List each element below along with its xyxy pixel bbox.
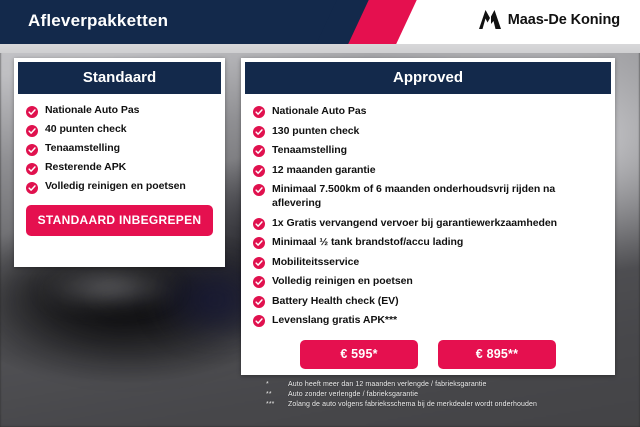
list-item: Minimaal ½ tank brandstof/accu lading: [253, 235, 603, 249]
footnote-marker: **: [266, 390, 288, 400]
check-circle-icon: [26, 106, 38, 118]
feature-label: Nationale Auto Pas: [45, 104, 139, 117]
list-item: Tenaamstelling: [26, 142, 213, 156]
price-button-895[interactable]: € 895**: [438, 340, 556, 369]
list-item: Nationale Auto Pas: [253, 104, 603, 118]
feature-label: Minimaal 7.500km of 6 maanden onderhouds…: [272, 182, 603, 210]
check-circle-icon: [253, 257, 265, 269]
check-circle-icon: [253, 315, 265, 327]
list-item: Tenaamstelling: [253, 143, 603, 157]
list-item: Volledig reinigen en poetsen: [253, 274, 603, 288]
feature-list-approved: Nationale Auto Pas 130 punten check Tena…: [253, 104, 603, 327]
feature-label: Minimaal ½ tank brandstof/accu lading: [272, 235, 463, 249]
check-circle-icon: [26, 163, 38, 175]
list-item: Levenslang gratis APK***: [253, 313, 603, 327]
background-highlight-streak: [40, 268, 180, 308]
feature-label: Tenaamstelling: [272, 143, 347, 157]
list-item: 40 punten check: [26, 123, 213, 137]
page-title: Afleverpakketten: [28, 11, 168, 31]
feature-label: Tenaamstelling: [45, 142, 120, 155]
maas-de-koning-logo-icon: [479, 10, 501, 29]
card-body-standaard: Nationale Auto Pas 40 punten check Tenaa…: [14, 94, 225, 244]
footnotes: * Auto heeft meer dan 12 maanden verleng…: [266, 380, 616, 410]
footnote-item: * Auto heeft meer dan 12 maanden verleng…: [266, 380, 616, 390]
check-circle-icon: [253, 165, 265, 177]
feature-label: Volledig reinigen en poetsen: [272, 274, 413, 288]
feature-label: Battery Health check (EV): [272, 294, 399, 308]
check-circle-icon: [253, 145, 265, 157]
check-circle-icon: [253, 276, 265, 288]
price-button-595[interactable]: € 595*: [300, 340, 418, 369]
feature-label: 130 punten check: [272, 124, 359, 138]
footnote-item: ** Auto zonder verlengde / fabrieksgaran…: [266, 390, 616, 400]
check-circle-icon: [253, 106, 265, 118]
standaard-inbegrepen-button[interactable]: STANDAARD INBEGREPEN: [26, 205, 213, 236]
footnote-marker: *: [266, 380, 288, 390]
list-item: Volledig reinigen en poetsen: [26, 180, 213, 194]
feature-label: Nationale Auto Pas: [272, 104, 366, 118]
check-circle-icon: [253, 296, 265, 308]
package-card-approved: Approved Nationale Auto Pas 130 punten c…: [241, 58, 615, 375]
check-circle-icon: [26, 144, 38, 156]
list-item: 12 maanden garantie: [253, 163, 603, 177]
list-item: Mobiliteitsservice: [253, 255, 603, 269]
footnote-item: *** Zolang de auto volgens fabrieksschem…: [266, 400, 616, 410]
package-card-standaard: Standaard Nationale Auto Pas 40 punten c…: [14, 58, 225, 267]
card-title-approved: Approved: [245, 62, 611, 94]
check-circle-icon: [253, 237, 265, 249]
price-button-row: € 595* € 895**: [253, 340, 603, 369]
feature-label: Mobiliteitsservice: [272, 255, 359, 269]
slide-canvas: Afleverpakketten Maas-De Koning Standaar…: [0, 0, 640, 427]
card-title-standaard: Standaard: [18, 62, 221, 94]
feature-label: Resterende APK: [45, 161, 126, 174]
brand-lockup: Maas-De Koning: [479, 10, 620, 29]
feature-label: 12 maanden garantie: [272, 163, 376, 177]
card-body-approved: Nationale Auto Pas 130 punten check Tena…: [241, 94, 615, 377]
footnote-text: Auto zonder verlengde / fabrieksgarantie: [288, 390, 616, 400]
check-circle-icon: [253, 126, 265, 138]
check-circle-icon: [26, 125, 38, 137]
footnote-text: Auto heeft meer dan 12 maanden verlengde…: [288, 380, 616, 390]
feature-label: 1x Gratis vervangend vervoer bij garanti…: [272, 216, 557, 230]
feature-label: 40 punten check: [45, 123, 127, 136]
header-underline-band: [0, 44, 640, 53]
footnote-marker: ***: [266, 400, 288, 410]
check-circle-icon: [253, 218, 265, 230]
list-item: Battery Health check (EV): [253, 294, 603, 308]
check-circle-icon: [253, 184, 265, 196]
brand-name: Maas-De Koning: [508, 12, 620, 28]
list-item: Resterende APK: [26, 161, 213, 175]
feature-label: Levenslang gratis APK***: [272, 313, 397, 327]
list-item: 1x Gratis vervangend vervoer bij garanti…: [253, 216, 603, 230]
check-circle-icon: [26, 182, 38, 194]
list-item: Minimaal 7.500km of 6 maanden onderhouds…: [253, 182, 603, 210]
feature-label: Volledig reinigen en poetsen: [45, 180, 186, 193]
footnote-text: Zolang de auto volgens fabrieksschema bi…: [288, 400, 616, 410]
list-item: 130 punten check: [253, 124, 603, 138]
list-item: Nationale Auto Pas: [26, 104, 213, 118]
page-header: Afleverpakketten Maas-De Koning: [0, 0, 640, 44]
feature-list-standaard: Nationale Auto Pas 40 punten check Tenaa…: [26, 104, 213, 194]
